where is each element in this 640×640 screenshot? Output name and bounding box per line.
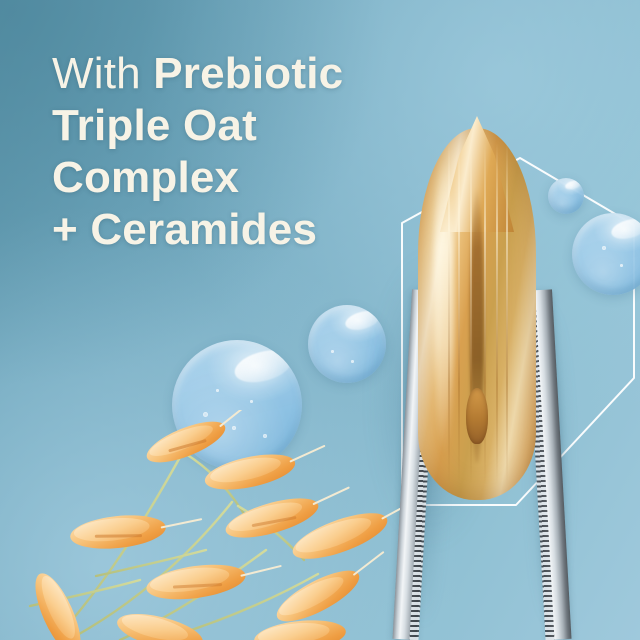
droplet-bubble bbox=[602, 246, 606, 250]
headline: With Prebiotic Triple Oat Complex + Cera… bbox=[52, 48, 452, 256]
headline-line-1: With Prebiotic bbox=[52, 48, 452, 100]
oat-grain-fiber bbox=[458, 143, 460, 485]
oat-spikelet bbox=[253, 616, 348, 640]
headline-line-4-bold: + Ceramides bbox=[52, 205, 317, 254]
droplet-bubble bbox=[331, 350, 334, 353]
headline-line-1-thin: With bbox=[52, 49, 153, 98]
oat-spikelet bbox=[144, 554, 283, 605]
headline-line-2: Triple Oat bbox=[52, 100, 452, 152]
droplet-small-top bbox=[548, 178, 584, 214]
headline-line-3-bold: Complex bbox=[52, 153, 239, 202]
droplet-bubble bbox=[351, 360, 354, 363]
oat-spikelet bbox=[69, 507, 204, 553]
oat-stalks bbox=[0, 410, 400, 640]
headline-line-3: Complex bbox=[52, 152, 452, 204]
oat-spikelet bbox=[202, 441, 330, 496]
oat-grain-germ bbox=[466, 388, 488, 444]
droplet-bubble bbox=[216, 389, 219, 392]
marketing-banner: With Prebiotic Triple Oat Complex + Cera… bbox=[0, 0, 640, 640]
headline-line-1-bold: Prebiotic bbox=[153, 49, 343, 98]
headline-line-2-bold: Triple Oat bbox=[52, 101, 257, 150]
oat-grain-fiber bbox=[506, 143, 508, 485]
droplet-bubble bbox=[620, 264, 623, 267]
droplet-bubble bbox=[250, 400, 253, 403]
oat-spikelet bbox=[114, 607, 207, 640]
oat-grain-fiber bbox=[496, 143, 498, 485]
headline-line-4: + Ceramides bbox=[52, 204, 452, 256]
